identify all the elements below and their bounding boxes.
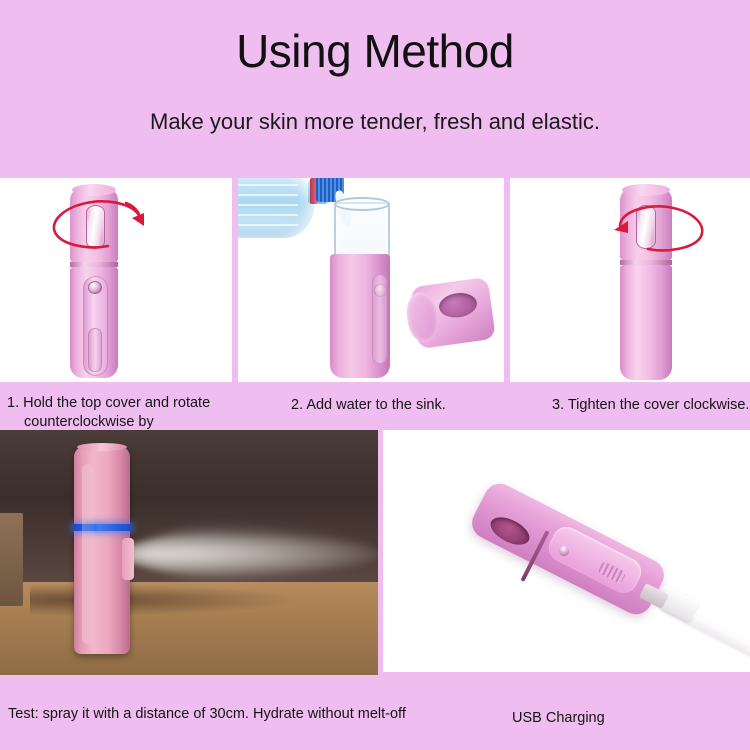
tank-opening — [334, 197, 390, 211]
scene-background-object — [0, 513, 23, 606]
step-3-caption: 3. Tighten the cover clockwise. — [552, 396, 749, 415]
water-bottle — [238, 178, 314, 238]
step-2-caption: 2. Add water to the sink. — [291, 396, 446, 415]
page-title: Using Method — [0, 26, 750, 76]
step-5-photo — [383, 430, 750, 672]
usb-charging-scene — [383, 430, 750, 672]
device-cap-top — [72, 184, 116, 196]
scene-shadow — [30, 584, 302, 616]
step-2-photo — [238, 178, 504, 382]
step-4-caption: Test: spray it with a distance of 30cm. … — [8, 705, 406, 724]
device-power-button-icon — [88, 281, 102, 294]
detached-cap-face — [404, 290, 441, 344]
device-slider — [372, 274, 388, 364]
step-1-photo — [0, 178, 232, 382]
step-1-caption: 1. Hold the top cover and rotate counter… — [7, 394, 232, 432]
detached-cap-hole — [437, 291, 478, 320]
rotate-clockwise-arrow-icon — [602, 200, 712, 256]
device-slider — [88, 328, 102, 372]
page-subtitle: Make your skin more tender, fresh and el… — [0, 108, 750, 136]
device-nozzle — [122, 538, 134, 580]
rotate-counterclockwise-arrow-icon — [36, 196, 166, 256]
step-4-photo — [0, 430, 378, 675]
detached-cap — [410, 277, 496, 349]
infographic-page: Using Method Make your skin more tender,… — [0, 0, 750, 750]
step-5-caption: USB Charging — [512, 709, 605, 728]
step-3-photo — [510, 178, 750, 382]
step-1-caption-line1: 1. Hold the top cover and rotate — [7, 394, 232, 413]
mist-plume-soft — [140, 522, 378, 584]
device-highlight — [82, 464, 94, 644]
device-top — [77, 443, 126, 451]
device-body — [620, 265, 672, 380]
device-cap-top — [622, 184, 670, 196]
